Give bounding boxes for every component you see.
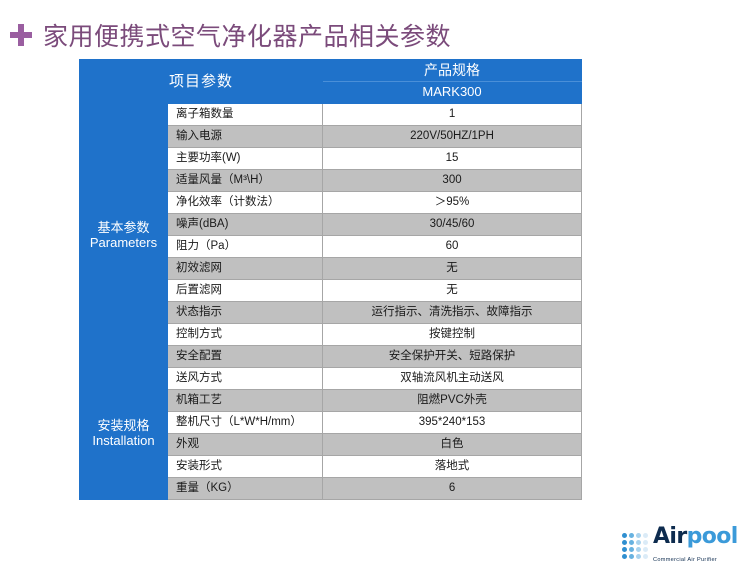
row-label: 机箱工艺: [168, 390, 323, 412]
section-label-parameters: 基本参数Parameters: [80, 104, 168, 368]
row-label: 安装形式: [168, 456, 323, 478]
row-label: 送风方式: [168, 368, 323, 390]
row-value: 30/45/60: [323, 214, 582, 236]
row-value: 无: [323, 280, 582, 302]
logo-word-light: pool: [687, 524, 738, 549]
row-label: 状态指示: [168, 302, 323, 324]
row-value: 6: [323, 478, 582, 500]
table-row: 基本参数Parameters离子箱数量1: [80, 104, 582, 126]
product-spec-table: 项目参数产品规格MARK300基本参数Parameters离子箱数量1输入电源2…: [79, 59, 582, 500]
row-label: 重量（KG）: [168, 478, 323, 500]
slide-canvas: 家用便携式空气净化器产品相关参数 项目参数产品规格MARK300基本参数Para…: [0, 0, 750, 572]
row-value: 运行指示、清洗指示、故障指示: [323, 302, 582, 324]
row-value: 395*240*153: [323, 412, 582, 434]
row-label: 控制方式: [168, 324, 323, 346]
row-label: 主要功率(W): [168, 148, 323, 170]
row-label: 输入电源: [168, 126, 323, 148]
row-value: 无: [323, 258, 582, 280]
row-label: 后置滤网: [168, 280, 323, 302]
row-value: 按键控制: [323, 324, 582, 346]
section-label-installation: 安装规格Installation: [80, 368, 168, 500]
header-cell-model: MARK300: [323, 82, 582, 104]
section-label-en: Parameters: [88, 236, 159, 251]
section-label-en: Installation: [88, 434, 159, 449]
row-label: 离子箱数量: [168, 104, 323, 126]
row-value: 60: [323, 236, 582, 258]
row-label: 净化效率（计数法）: [168, 192, 323, 214]
row-value: 白色: [323, 434, 582, 456]
row-label: 噪声(dBA): [168, 214, 323, 236]
logo-word-dark: Air: [653, 524, 687, 549]
row-value: 300: [323, 170, 582, 192]
row-label: 安全配置: [168, 346, 323, 368]
row-label: 外观: [168, 434, 323, 456]
row-value: 安全保护开关、短路保护: [323, 346, 582, 368]
row-value: ＞95%: [323, 192, 582, 214]
table-header-row: 项目参数产品规格: [80, 60, 582, 82]
page-title: 家用便携式空气净化器产品相关参数: [10, 18, 451, 52]
row-label: 初效滤网: [168, 258, 323, 280]
row-label: 整机尺寸（L*W*H/mm）: [168, 412, 323, 434]
dot-matrix-icon: [622, 533, 648, 559]
row-label: 阻力（Pa）: [168, 236, 323, 258]
row-value: 220V/50HZ/1PH: [323, 126, 582, 148]
page-title-text: 家用便携式空气净化器产品相关参数: [43, 17, 451, 53]
logo-tagline: Commercial Air Purifier: [653, 557, 717, 563]
logo-wordmark: Airpool: [653, 524, 738, 549]
row-value: 落地式: [323, 456, 582, 478]
airpool-logo: Airpool Commercial Air Purifier: [622, 526, 750, 566]
row-value: 1: [323, 104, 582, 126]
header-cell-product-spec: 产品规格: [323, 60, 582, 82]
header-cell-item-params: 项目参数: [80, 60, 323, 104]
row-value: 阻燃PVC外壳: [323, 390, 582, 412]
section-label-cn: 安装规格: [88, 419, 159, 434]
plus-icon: [10, 24, 32, 46]
section-label-cn: 基本参数: [88, 221, 159, 236]
row-value: 15: [323, 148, 582, 170]
row-label: 适量风量（M³\H）: [168, 170, 323, 192]
row-value: 双轴流风机主动送风: [323, 368, 582, 390]
table-row: 安装规格Installation送风方式双轴流风机主动送风: [80, 368, 582, 390]
